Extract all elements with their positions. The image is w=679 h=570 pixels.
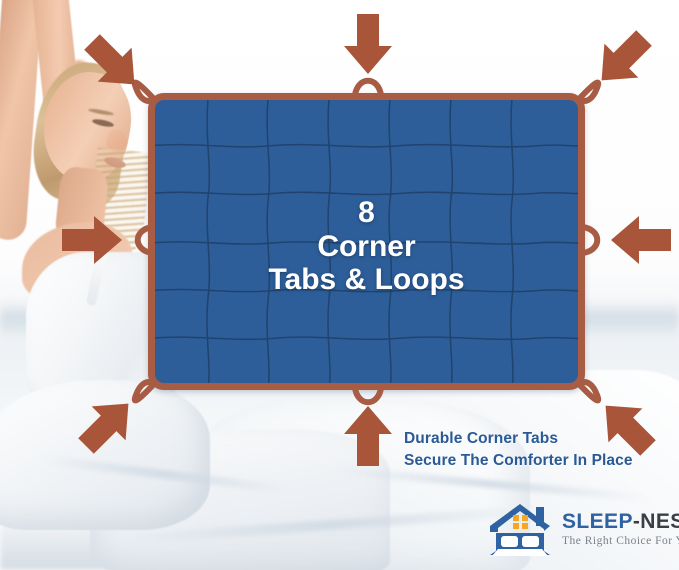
product-infographic: 8 Corner Tabs & Loops: [0, 0, 679, 570]
brand-name-part-2: -NEST: [633, 510, 679, 533]
brand-tagline: The Right Choice For You: [562, 535, 679, 547]
bedding-fold-left: [0, 380, 210, 530]
caption-line-1: Durable Corner Tabs: [404, 428, 633, 450]
brand-wordmark: SLEEP-NEST The Right Choice For You: [562, 511, 679, 547]
brand-name-part-1: SLEEP: [562, 510, 633, 533]
caption-line-2: Secure The Comforter In Place: [404, 450, 633, 472]
window-panes: [513, 515, 528, 529]
house-with-bed-icon: [486, 499, 560, 559]
brand-logo: SLEEP-NEST The Right Choice For You: [486, 498, 672, 560]
comforter-panel: 8 Corner Tabs & Loops: [148, 93, 585, 390]
feature-caption: Durable Corner Tabs Secure The Comforter…: [404, 428, 633, 473]
brand-name: SLEEP-NEST: [562, 511, 679, 532]
quilt-stitch-grid: [155, 100, 578, 383]
